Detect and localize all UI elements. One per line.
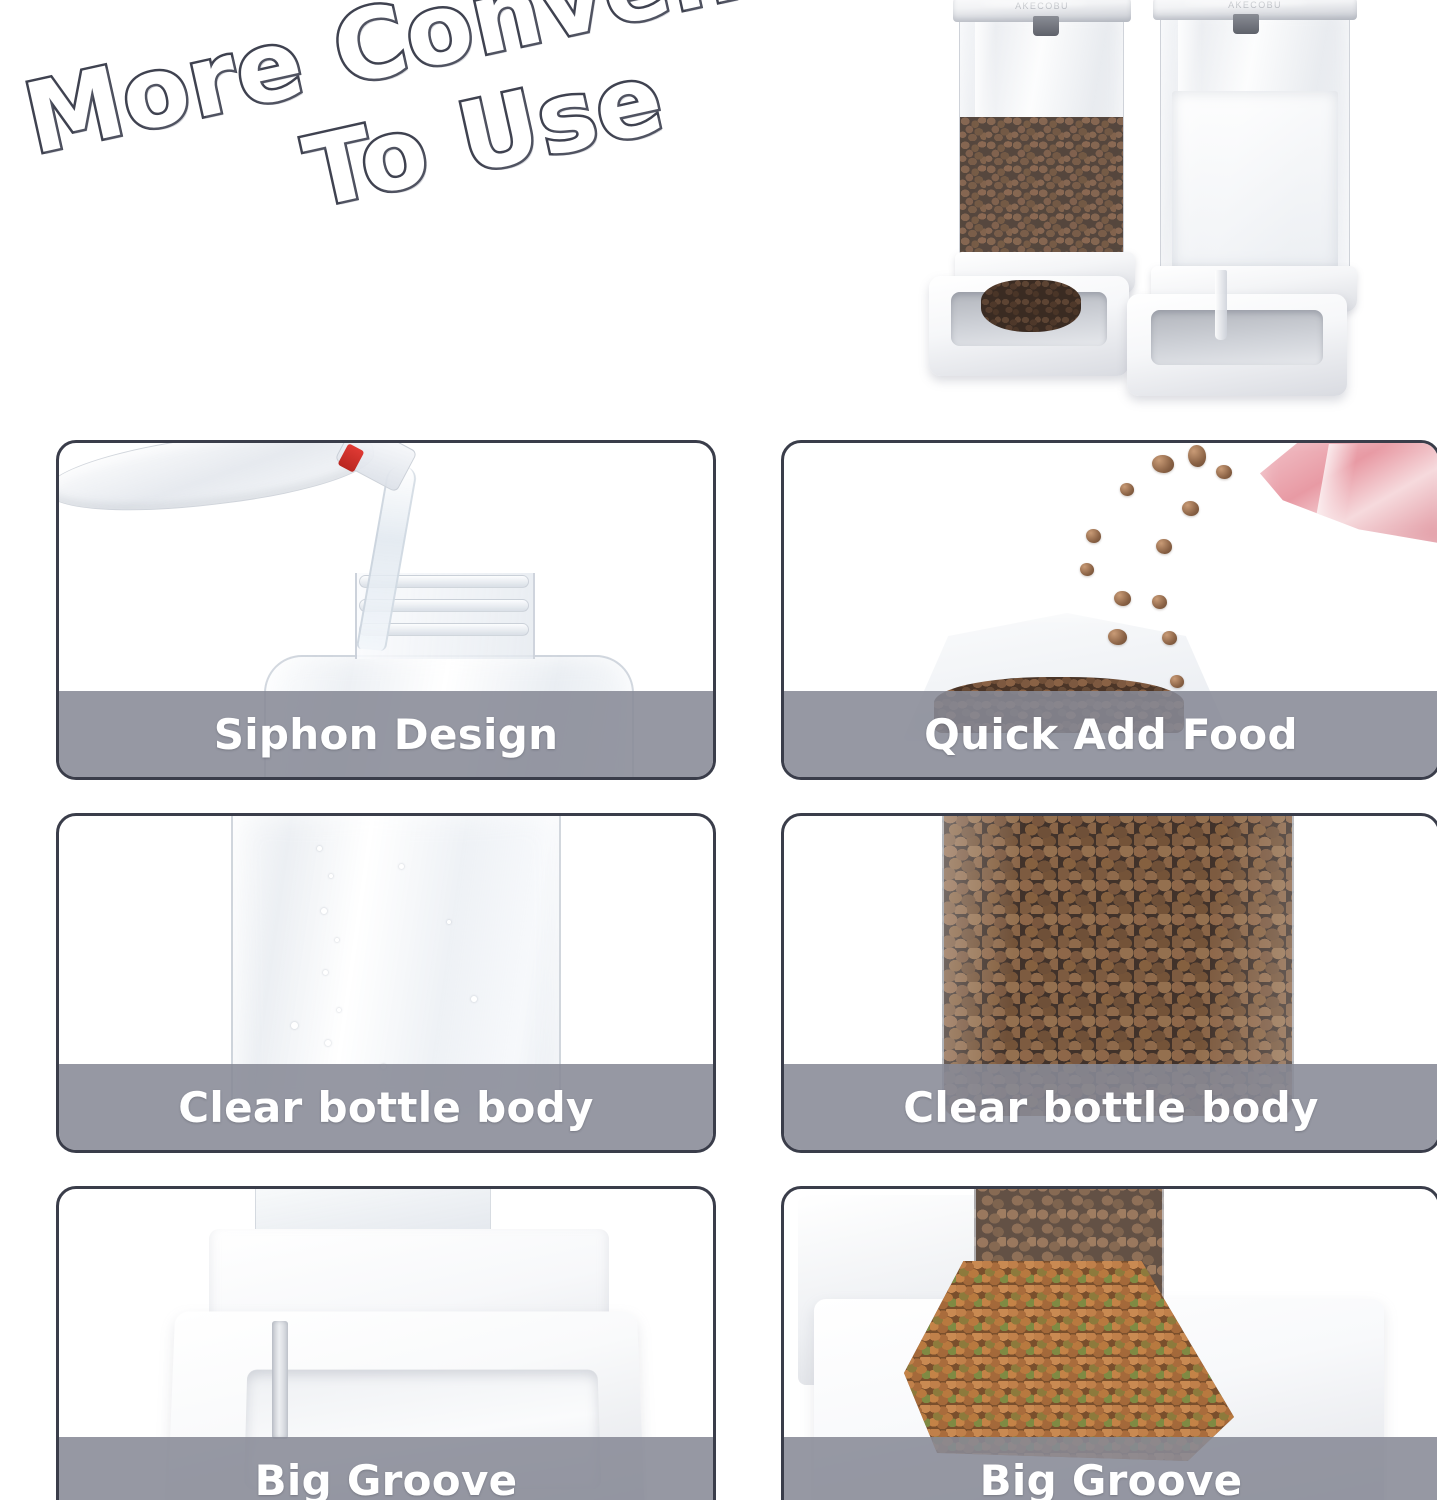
- food-pouch: [1260, 440, 1437, 545]
- feature-card-siphon-design[interactable]: Siphon Design: [56, 440, 716, 780]
- water-droplet: [317, 846, 322, 851]
- caption-bar: Clear bottle body: [59, 1064, 713, 1150]
- water-droplet: [321, 908, 327, 914]
- caption-bar: Siphon Design: [59, 691, 713, 777]
- food-bowl-kibble-pile: [981, 280, 1081, 332]
- water-tank: [1160, 10, 1350, 280]
- dispensed-kibble-pile: [904, 1261, 1234, 1461]
- falling-kibble: [1156, 539, 1172, 554]
- food-tank-kibble: [960, 117, 1123, 267]
- falling-kibble: [1188, 445, 1206, 467]
- water-bowl: [1127, 294, 1347, 396]
- big-groove-channel: [272, 1321, 288, 1439]
- water-droplet: [323, 970, 328, 975]
- pouring-bottle: [56, 440, 378, 525]
- falling-kibble: [1170, 675, 1184, 688]
- headline-block: More Convenient To Use: [10, 0, 937, 286]
- water-droplet: [325, 1040, 331, 1046]
- falling-kibble: [1108, 629, 1127, 645]
- brand-logo-water: AKECOBU: [1228, 0, 1282, 10]
- water-droplet: [471, 996, 477, 1002]
- caption-bar: Big Groove: [59, 1437, 713, 1500]
- food-lid-latch: [1033, 16, 1059, 36]
- falling-kibble: [1086, 529, 1101, 543]
- caption-label: Big Groove: [255, 1456, 518, 1500]
- feature-card-clear-bottle-food[interactable]: Clear bottle body: [781, 813, 1437, 1153]
- falling-kibble: [1162, 631, 1177, 645]
- water-droplet: [337, 1008, 341, 1012]
- water-lid-latch: [1233, 14, 1259, 34]
- caption-label: Big Groove: [980, 1456, 1243, 1500]
- feature-card-big-groove-food[interactable]: Big Groove: [781, 1186, 1437, 1500]
- falling-kibble: [1152, 455, 1174, 473]
- caption-bar: Quick Add Food: [784, 691, 1437, 777]
- feature-card-clear-bottle-water[interactable]: Clear bottle body: [56, 813, 716, 1153]
- falling-kibble: [1152, 595, 1167, 609]
- water-droplet: [291, 1022, 298, 1029]
- water-droplet: [329, 874, 333, 878]
- product-feature-infographic: More Convenient To Use AKECOBU: [0, 0, 1437, 1500]
- feature-card-grid: Siphon Design: [56, 440, 1381, 1500]
- caption-label: Clear bottle body: [178, 1083, 593, 1132]
- water-spout: [1215, 270, 1227, 340]
- falling-kibble: [1182, 501, 1199, 516]
- caption-bar: Clear bottle body: [784, 1064, 1437, 1150]
- falling-kibble: [1120, 483, 1134, 496]
- water-droplet: [335, 938, 339, 942]
- food-bowl: [929, 276, 1129, 376]
- feature-card-big-groove-water[interactable]: Big Groove: [56, 1186, 716, 1500]
- brand-logo-food: AKECOBU: [1015, 1, 1069, 11]
- water-bowl-inner: [1151, 310, 1323, 365]
- water-droplet: [399, 864, 404, 869]
- hero-product-photo: AKECOBU AKECOBU: [915, 0, 1437, 414]
- food-tank: [959, 12, 1124, 268]
- falling-kibble: [1216, 465, 1232, 479]
- caption-label: Clear bottle body: [903, 1083, 1318, 1132]
- headline-line-1: More Convenient: [10, 0, 912, 176]
- caption-label: Quick Add Food: [924, 710, 1298, 759]
- caption-label: Siphon Design: [214, 710, 559, 759]
- falling-kibble: [1080, 563, 1094, 576]
- caption-bar: Big Groove: [784, 1437, 1437, 1500]
- water-tank-fill: [1172, 91, 1337, 268]
- falling-kibble: [1114, 591, 1131, 606]
- feature-card-quick-add-food[interactable]: Quick Add Food: [781, 440, 1437, 780]
- headline-line-2: To Use: [34, 0, 936, 286]
- water-droplet: [447, 920, 451, 924]
